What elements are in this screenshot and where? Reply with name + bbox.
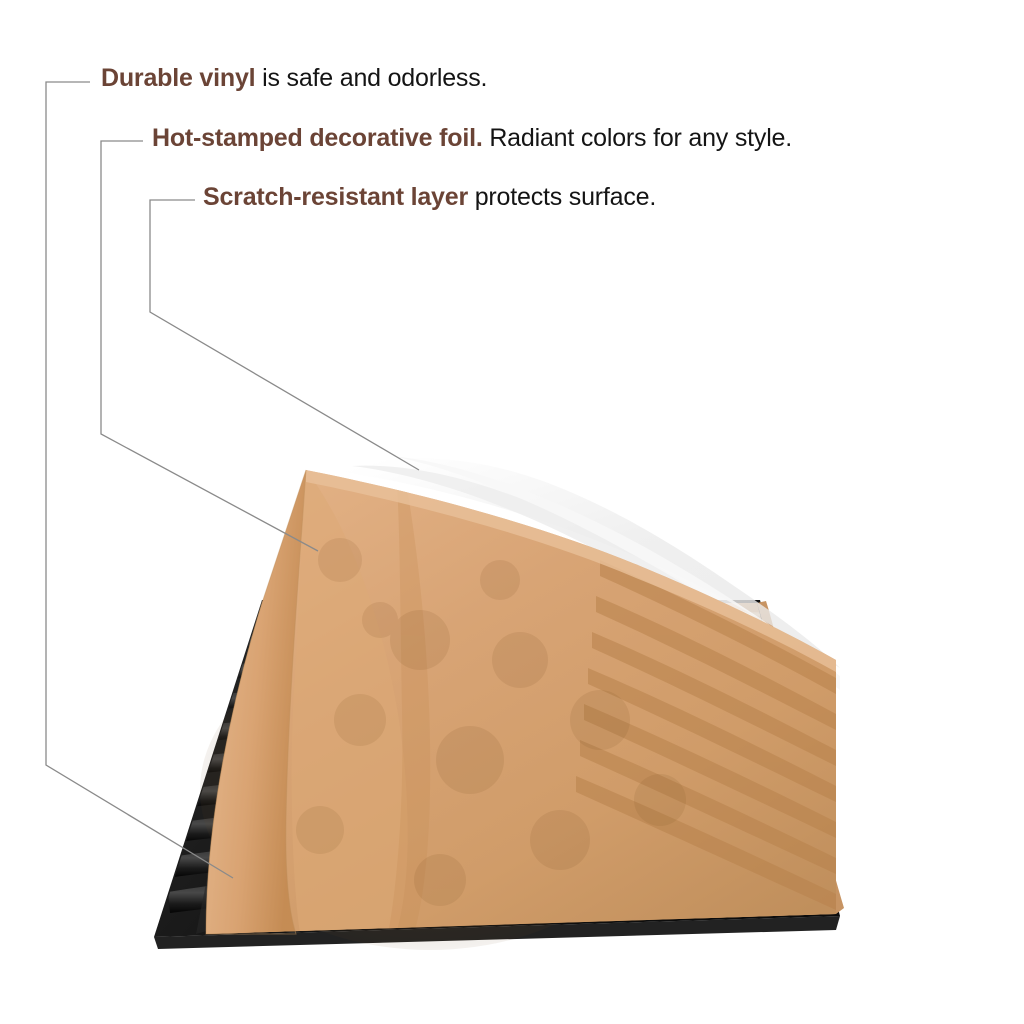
infographic-canvas: Durable vinyl is safe and odorless. Hot-… xyxy=(0,0,1024,1024)
callout-lead-2: Scratch-resistant layer xyxy=(203,183,468,211)
callout-rest-2: protects surface. xyxy=(468,183,656,211)
callout-rest-1: Radiant colors for any style. xyxy=(483,124,792,152)
leader-line-scratch-resistant-layer xyxy=(150,200,419,470)
callout-hot-stamped-foil: Hot-stamped decorative foil. Radiant col… xyxy=(152,126,792,151)
callout-rest-0: is safe and odorless. xyxy=(255,64,487,92)
callout-durable-vinyl: Durable vinyl is safe and odorless. xyxy=(101,66,487,91)
callout-lead-1: Hot-stamped decorative foil. xyxy=(152,124,483,152)
callout-scratch-resistant-layer: Scratch-resistant layer protects surface… xyxy=(203,185,656,210)
callout-lead-0: Durable vinyl xyxy=(101,64,255,92)
leader-lines xyxy=(0,0,1024,1024)
